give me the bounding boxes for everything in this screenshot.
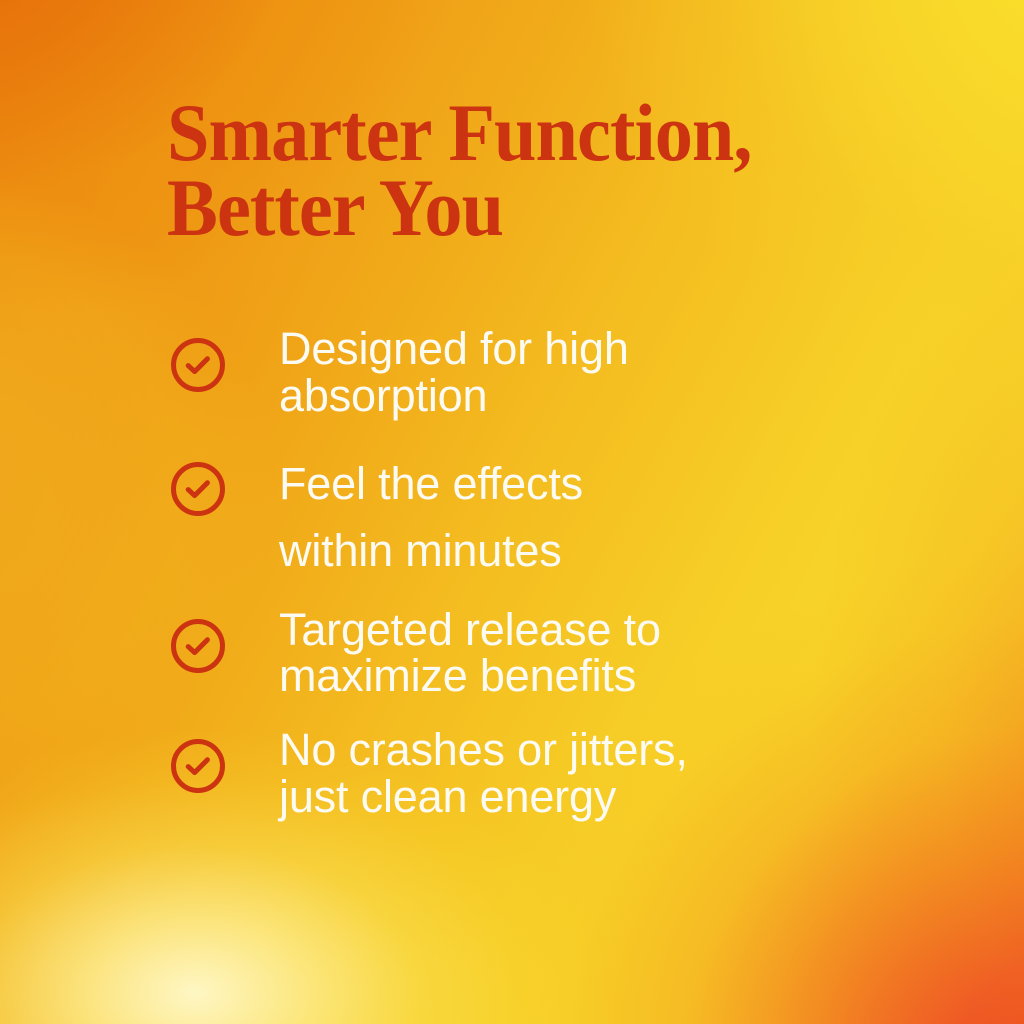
poster-content: Smarter Function, Better You Designed fo…: [0, 0, 1024, 1024]
check-circle-icon: [170, 461, 226, 517]
list-item: No crashes or jitters, just clean energy: [170, 727, 970, 821]
benefit-text: Targeted release to maximize benefits: [279, 607, 970, 701]
page-title: Smarter Function, Better You: [167, 95, 874, 246]
check-circle-icon: [170, 337, 226, 393]
check-circle-icon: [170, 618, 226, 674]
benefit-text: Designed for high absorption: [279, 326, 970, 420]
list-item: Feel the effects within minutes: [170, 450, 970, 585]
benefits-list: Designed for high absorption Feel the ef…: [170, 326, 970, 821]
list-item: Targeted release to maximize benefits: [170, 607, 970, 701]
list-item: Designed for high absorption: [170, 326, 970, 420]
check-circle-icon: [170, 738, 226, 794]
benefit-text: No crashes or jitters, just clean energy: [279, 727, 970, 821]
promo-poster: Smarter Function, Better You Designed fo…: [0, 0, 1024, 1024]
benefit-text: Feel the effects within minutes: [279, 450, 970, 585]
